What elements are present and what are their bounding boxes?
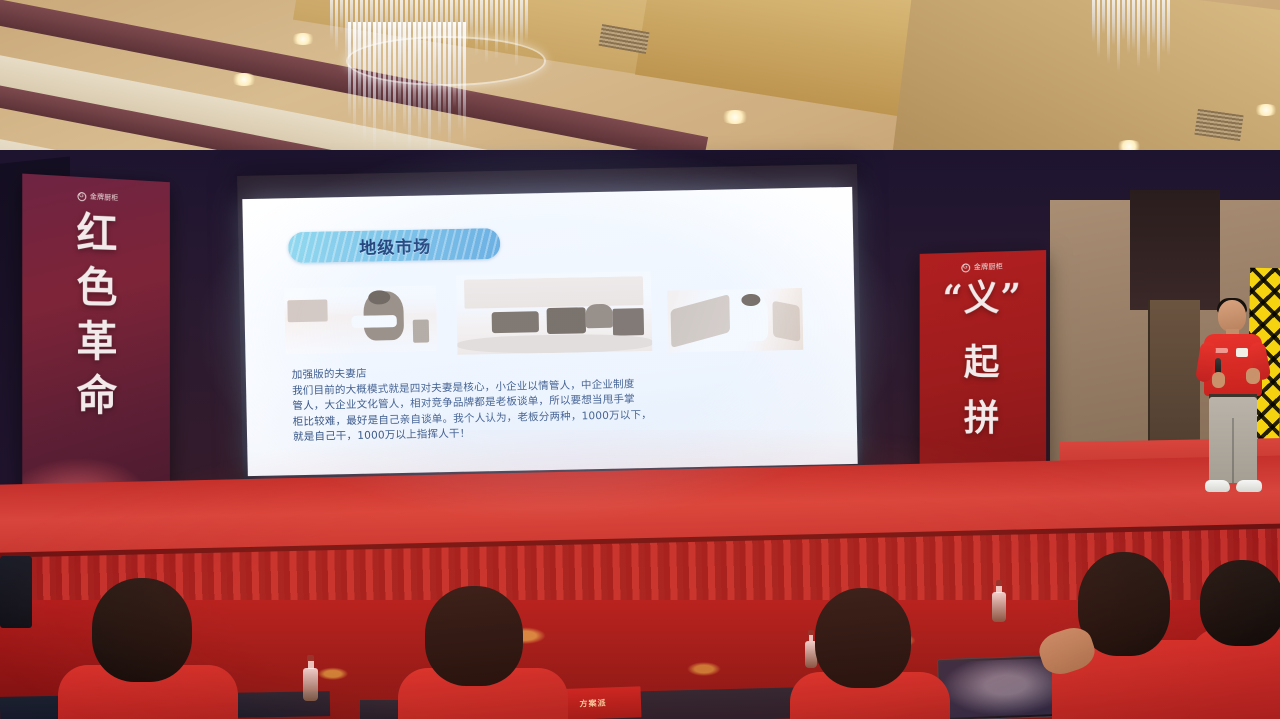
slide-photo-row [284, 268, 815, 357]
presenter-leg-split [1232, 418, 1234, 483]
water-bottle-2 [992, 580, 1006, 622]
banner-right-logo-text: 金牌厨柜 [974, 261, 1003, 272]
presenter-shirt-logo [1236, 348, 1248, 357]
banner-left-logo-text: 金牌厨柜 [90, 192, 119, 203]
presentation-slide: 地级市场 [242, 187, 857, 476]
banner-left: G 金牌厨柜 红 色 革 命 [22, 174, 170, 513]
banner-left-logo: G 金牌厨柜 [22, 188, 170, 206]
presenter [1196, 300, 1270, 508]
presenter-shirt-text [1214, 348, 1228, 353]
conference-room-photo: G 金牌厨柜 红 色 革 命 G 金牌厨柜 “义” 起 拼 地级市场 [0, 0, 1280, 719]
slide-title: 地级市场 [291, 230, 500, 261]
banner-left-char-3: 革 [22, 319, 170, 364]
brand-logo-icon: G [77, 191, 86, 201]
photo-woman-walking [667, 288, 803, 353]
brand-logo-icon: G [961, 263, 970, 272]
banner-right-char-3: 拼 [920, 398, 1046, 439]
name-placard-text: 方案派 [579, 698, 606, 710]
banner-right-char-1: “义” [920, 276, 1046, 319]
downlight-5 [1253, 104, 1279, 116]
photo-man-reading-document [284, 285, 437, 354]
banner-left-char-2: 色 [22, 264, 170, 311]
downlight-2 [230, 73, 258, 86]
phone-screen[interactable] [940, 658, 1060, 718]
banner-right-logo: G 金牌厨柜 [920, 260, 1046, 273]
photo-open-plan-office [456, 271, 653, 355]
presenter-right-hand [1246, 368, 1260, 384]
downlight-3 [720, 110, 750, 124]
presenter-left-hand [1212, 372, 1225, 388]
chair-back-left [0, 556, 32, 628]
downlight-1 [290, 33, 316, 45]
banner-left-char-1: 红 [22, 208, 170, 258]
presenter-head [1218, 300, 1246, 332]
projection-screen[interactable]: 地级市场 [242, 187, 857, 476]
slide-body-text: 加强版的夫妻店 我们目前的大概模式就是四对夫妻是核心，小企业以情管人，中企业制度… [292, 358, 793, 446]
chandelier-right [1092, 0, 1172, 74]
banner-left-char-4: 命 [22, 373, 170, 420]
right-wall-upper-dark [1130, 190, 1220, 310]
banner-right-char-2: 起 [920, 341, 1046, 382]
water-bottle-1 [303, 655, 318, 701]
chandelier-ring [346, 36, 546, 86]
presenter-right-shoe [1236, 480, 1262, 492]
presenter-left-shoe [1205, 480, 1230, 492]
